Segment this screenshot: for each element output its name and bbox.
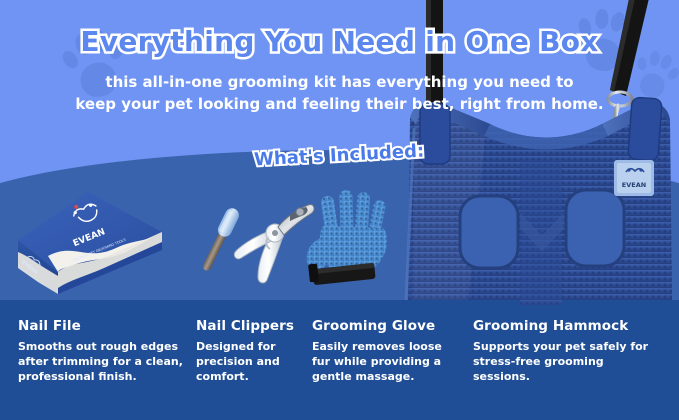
product-description: Designed for precision and comfort. [196, 340, 304, 385]
subtitle-line-1: this all-in-one grooming kit has everyth… [60, 72, 619, 94]
svg-text:EVEAN: EVEAN [622, 181, 646, 189]
infographic-canvas: EVEAN Everything You Need in One Box thi… [0, 0, 679, 420]
product-description: Easily removes loose fur while providing… [312, 340, 460, 385]
section-heading-included: What's Included: [0, 145, 679, 166]
product-title: Nail Clippers [196, 318, 304, 334]
grooming-glove-image [299, 186, 404, 294]
hammock-body: EVEAN [406, 97, 672, 305]
product-column-grooming-hammock: Grooming Hammock Supports your pet safel… [473, 318, 663, 385]
product-box-image: EVEAN PREMIUM PET GROOMING TOOLS EVEAN [12, 176, 172, 296]
product-title: Grooming Hammock [473, 318, 663, 334]
page-title: Everything You Need in One Box [0, 25, 679, 58]
included-heading-text: What's Included: [254, 141, 425, 171]
product-title: Nail File [18, 318, 190, 334]
product-column-nail-clippers: Nail Clippers Designed for precision and… [196, 318, 304, 385]
product-column-grooming-glove: Grooming Glove Easily removes loose fur … [312, 318, 460, 385]
subtitle-line-2: keep your pet looking and feeling their … [60, 94, 619, 116]
product-description-row: Nail File Smooths out rough edges after … [0, 318, 679, 418]
product-title: Grooming Glove [312, 318, 460, 334]
product-description: Supports your pet safely for stress-free… [473, 340, 663, 385]
page-subtitle: this all-in-one grooming kit has everyth… [60, 72, 619, 116]
product-column-nail-file: Nail File Smooths out rough edges after … [18, 318, 190, 385]
product-description: Smooths out rough edges after trimming f… [18, 340, 190, 385]
